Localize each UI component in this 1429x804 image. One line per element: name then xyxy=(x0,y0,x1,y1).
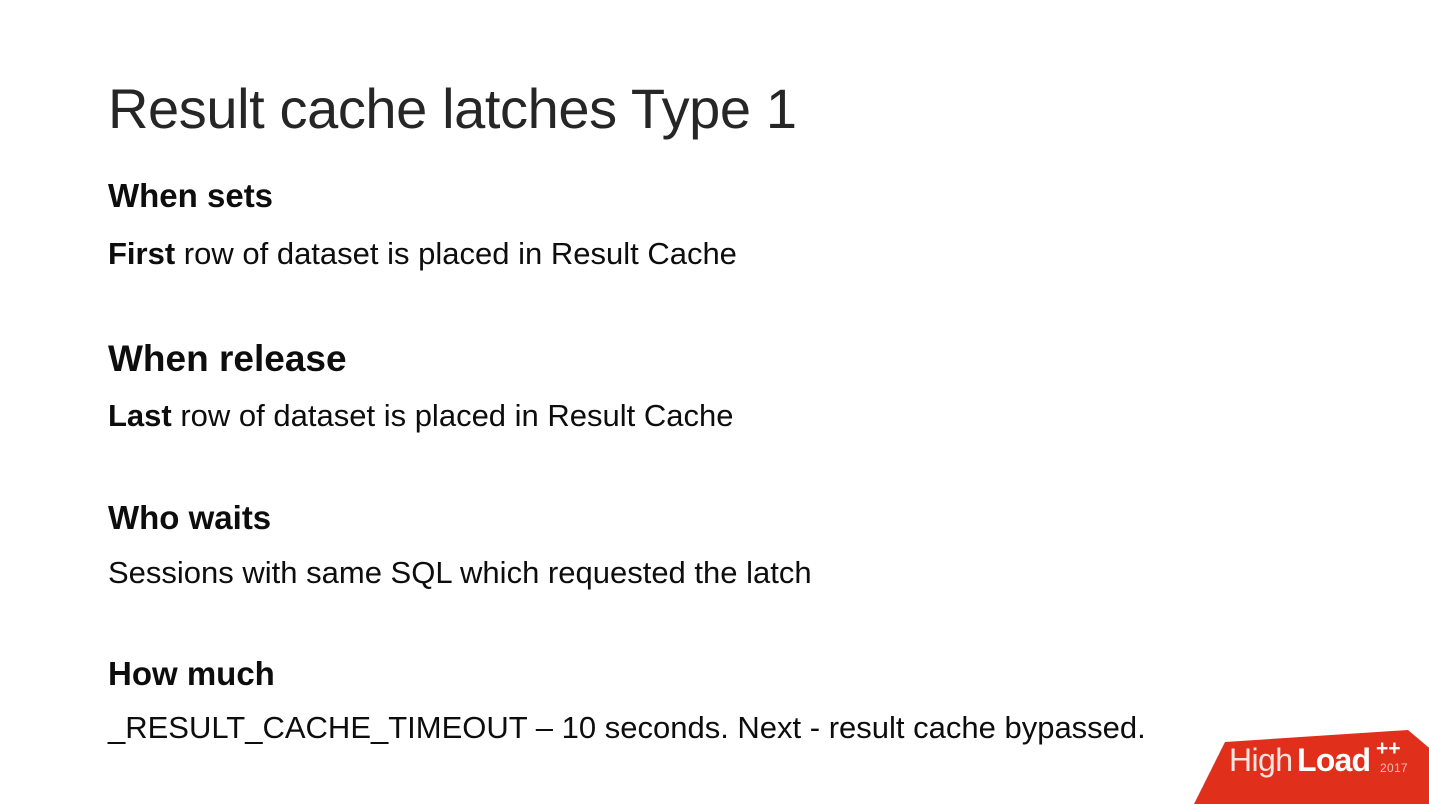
section-body-when-release: Last row of dataset is placed in Result … xyxy=(108,398,734,434)
bold-prefix-last: Last xyxy=(108,398,172,433)
section-heading-when-sets: When sets xyxy=(108,178,273,215)
highload-logo: High Load ++ 2017 xyxy=(1184,730,1429,804)
section-body-when-sets: First row of dataset is placed in Result… xyxy=(108,236,737,272)
logo-polygon xyxy=(1192,730,1429,804)
section-heading-who-waits: Who waits xyxy=(108,500,271,537)
section-body-how-much: _RESULT_CACHE_TIMEOUT – 10 seconds. Next… xyxy=(108,710,1146,746)
highload-logo-shape xyxy=(1184,730,1429,804)
section-body-who-waits: Sessions with same SQL which requested t… xyxy=(108,555,812,591)
section-heading-how-much: How much xyxy=(108,656,275,693)
body-rest-first: row of dataset is placed in Result Cache xyxy=(175,236,737,271)
section-heading-when-release: When release xyxy=(108,338,347,379)
bold-prefix-first: First xyxy=(108,236,175,271)
page-title: Result cache latches Type 1 xyxy=(108,78,797,140)
slide-canvas: Result cache latches Type 1 When sets Fi… xyxy=(0,0,1429,804)
body-rest-last: row of dataset is placed in Result Cache xyxy=(172,398,734,433)
